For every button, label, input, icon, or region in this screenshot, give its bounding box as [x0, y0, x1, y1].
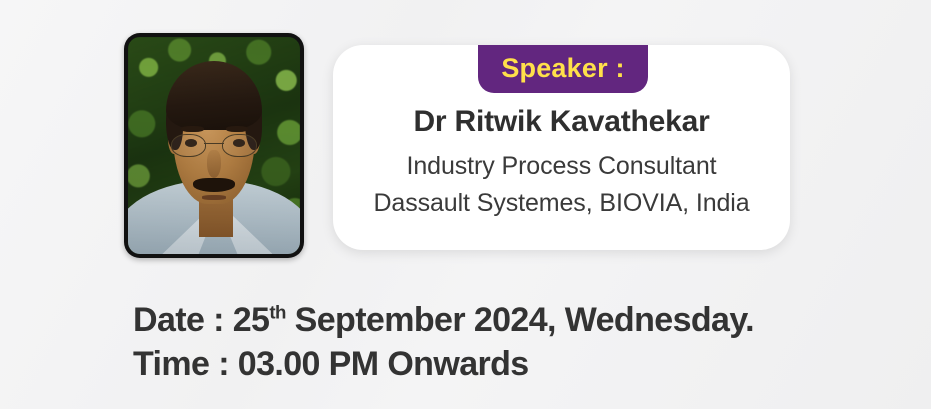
event-details: Date : 25th September 2024, Wednesday. T…	[133, 298, 754, 386]
event-date-day: 25	[233, 301, 270, 339]
speaker-photo	[128, 37, 300, 254]
event-date-label: Date :	[133, 301, 233, 339]
event-time-line: Time : 03.00 PM Onwards	[133, 342, 754, 386]
speaker-badge-label: Speaker :	[501, 55, 624, 84]
event-date-rest: September 2024, Wednesday.	[286, 301, 754, 339]
speaker-photo-frame	[124, 33, 304, 258]
speaker-organization: Dassault Systemes, BIOVIA, India	[333, 189, 790, 218]
speaker-info-card: Speaker : Dr Ritwik Kavathekar Industry …	[333, 45, 790, 250]
webinar-speaker-poster: Speaker : Dr Ritwik Kavathekar Industry …	[0, 0, 931, 409]
event-date-line: Date : 25th September 2024, Wednesday.	[133, 298, 754, 342]
speaker-badge: Speaker :	[478, 45, 648, 93]
photo-vignette	[128, 37, 300, 254]
speaker-role: Industry Process Consultant	[333, 152, 790, 181]
speaker-name: Dr Ritwik Kavathekar	[333, 105, 790, 139]
event-date-ordinal: th	[269, 302, 285, 323]
